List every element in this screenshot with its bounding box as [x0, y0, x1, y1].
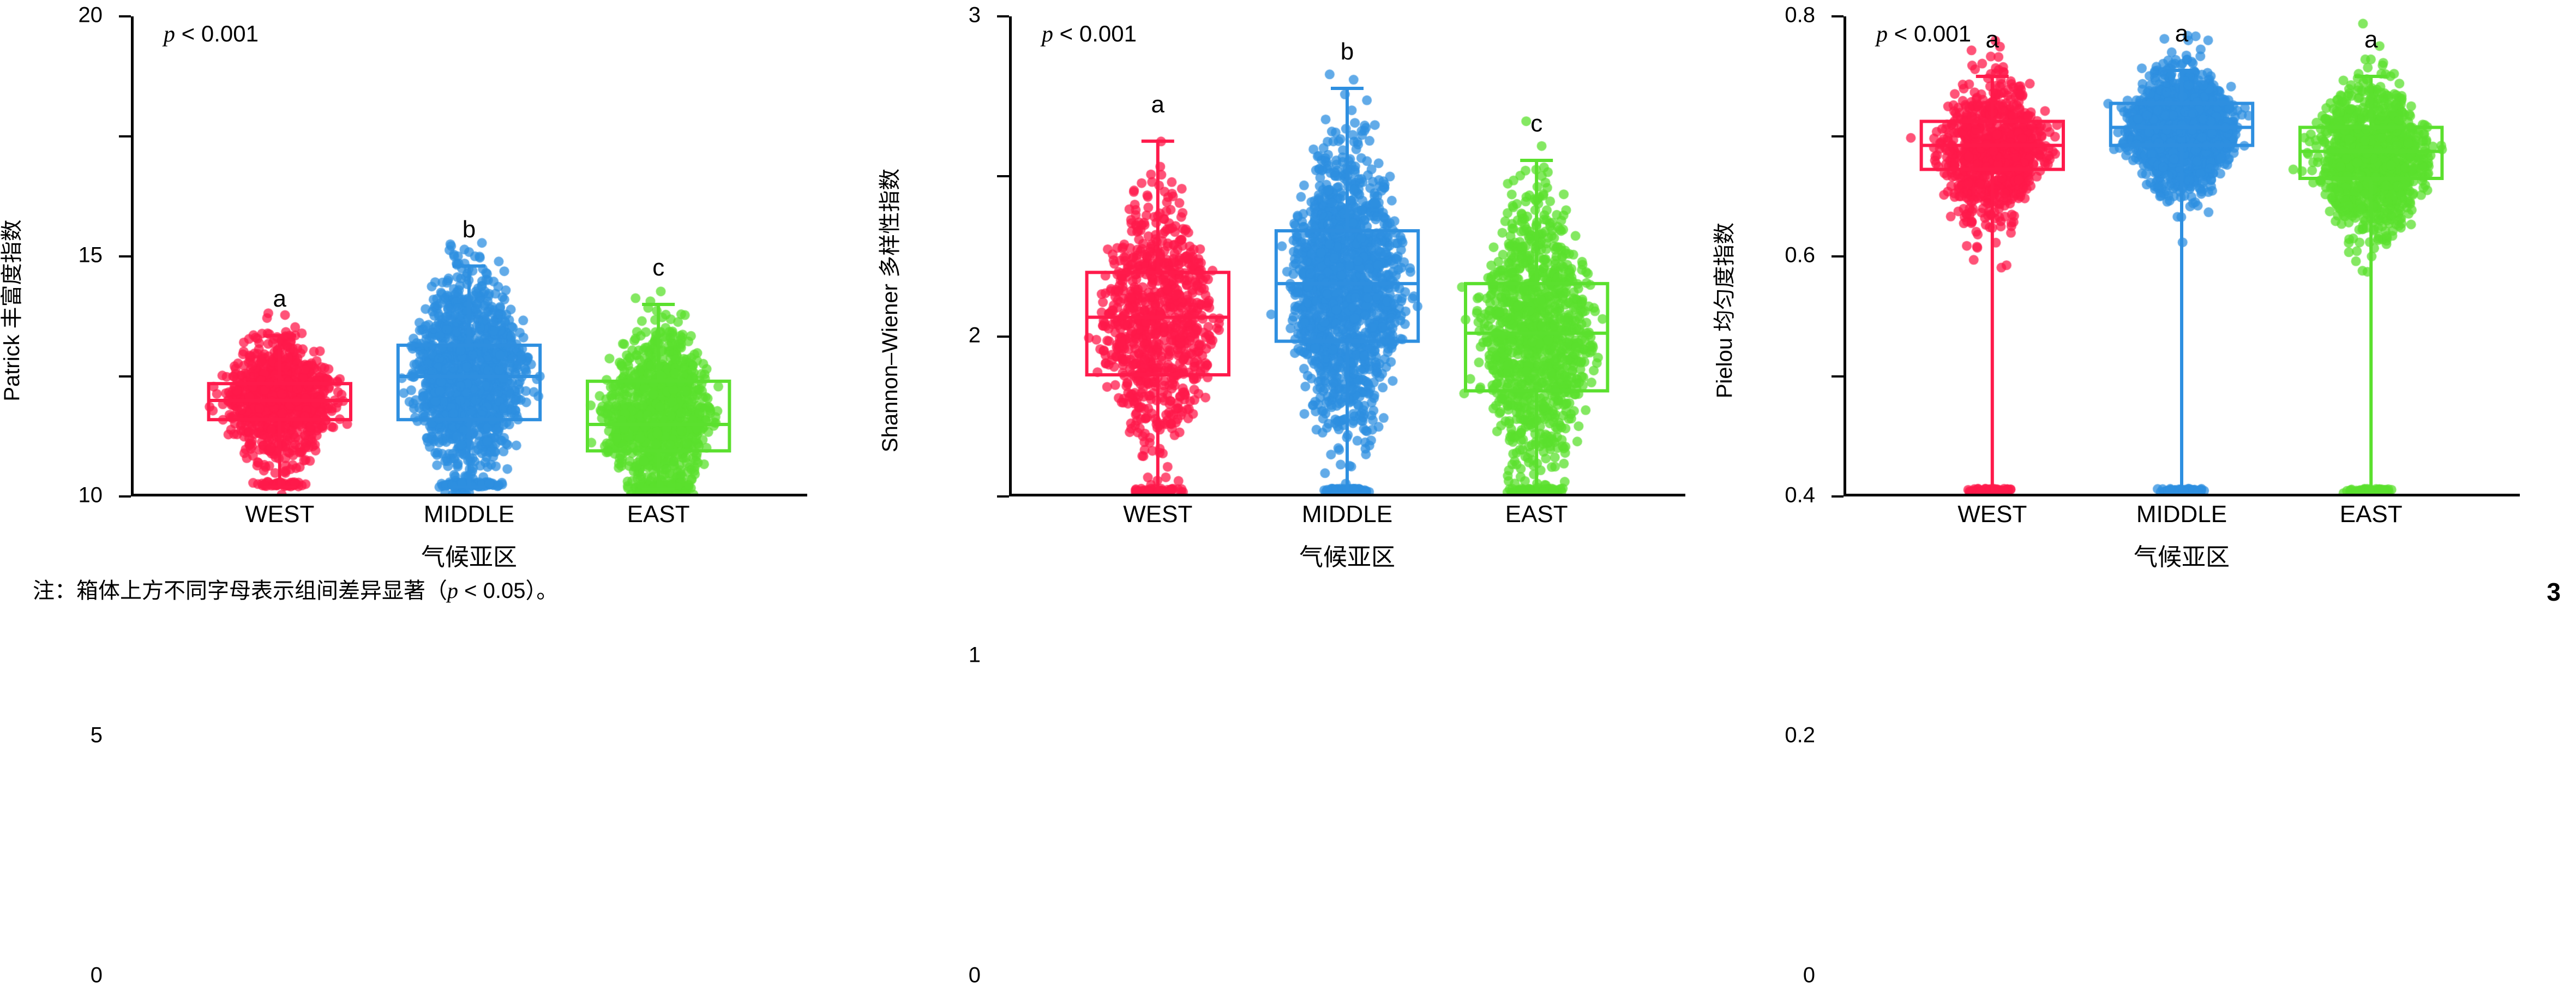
y-tick-2-4: 0.8: [1832, 15, 1844, 17]
y-axis-title-1: Shannon–Wiener 多样性指数: [872, 169, 904, 452]
x-tick-label-1-1: MIDDLE: [1302, 501, 1392, 528]
plot-area-2: 00.20.40.60.8: [1844, 16, 2520, 496]
plot-area-0: 05101520: [131, 16, 807, 496]
boxplot-shapes-0: [131, 16, 807, 496]
y-tick-0-3: 15: [119, 135, 131, 137]
plot-area-1: 0123: [1009, 16, 1685, 496]
y-tick-1-0: 0: [997, 495, 1009, 498]
y-tick-label-1-0: 0: [969, 963, 981, 988]
x-axis-1: [1009, 494, 1685, 496]
x-axis-title-0: 气候亚区: [421, 537, 517, 572]
page-number: 3: [2547, 577, 2561, 607]
pvalue-annotation-2: p < 0.001: [1876, 21, 1971, 47]
boxplot-shapes-1: [1009, 16, 1685, 496]
boxplot-shapes-2: [1844, 16, 2520, 496]
y-tick-label-0-1: 5: [91, 723, 103, 748]
x-axis-0: [131, 494, 807, 496]
x-tick-label-0-1: MIDDLE: [424, 501, 514, 528]
y-tick-label-2-4: 0.8: [1785, 3, 1815, 28]
sig-letter-1-0: a: [1151, 91, 1164, 118]
y-tick-0-4: 20: [119, 15, 131, 17]
y-axis-1: [1009, 16, 1012, 496]
y-tick-1-3: 3: [997, 15, 1009, 17]
y-tick-0-1: 5: [119, 375, 131, 378]
y-tick-label-0-4: 20: [79, 3, 103, 28]
y-tick-label-2-2: 0.4: [1785, 483, 1815, 508]
x-tick-label-0-2: EAST: [627, 501, 690, 528]
sig-letter-0-2: c: [652, 254, 664, 282]
x-tick-label-0-0: WEST: [245, 501, 314, 528]
x-axis-2: [1844, 494, 2520, 496]
y-axis-title-2: Pielou 均匀度指数: [1707, 223, 1738, 398]
sig-letter-2-1: a: [2175, 20, 2188, 47]
x-tick-label-2-2: EAST: [2340, 501, 2403, 528]
pvalue-annotation-0: p < 0.001: [164, 21, 259, 47]
sig-letter-1-1: b: [1341, 38, 1354, 65]
y-tick-2-0: 0: [1832, 495, 1844, 498]
y-axis-0: [131, 16, 134, 496]
y-tick-label-2-0: 0: [1803, 963, 1815, 988]
chart-panel-pielou: 00.20.40.60.8 p < 0.001 Pielou 均匀度指数 WES…: [1713, 0, 2547, 621]
y-tick-label-1-1: 1: [969, 643, 981, 668]
x-axis-title-1: 气候亚区: [1299, 537, 1395, 572]
y-tick-label-1-3: 3: [969, 3, 981, 28]
y-tick-label-2-1: 0.2: [1785, 723, 1815, 748]
pvalue-annotation-1: p < 0.001: [1042, 21, 1137, 47]
sig-letter-0-1: b: [463, 216, 476, 243]
y-tick-2-2: 0.4: [1832, 255, 1844, 258]
sig-letter-2-2: a: [2364, 26, 2377, 53]
y-tick-label-0-3: 15: [79, 243, 103, 268]
y-axis-title-0: Patrick 丰富度指数: [0, 219, 26, 401]
chart-panel-shannon: 0123 p < 0.001 Shannon–Wiener 多样性指数 WEST…: [878, 0, 1713, 621]
y-axis-2: [1844, 16, 1846, 496]
x-tick-label-1-2: EAST: [1505, 501, 1568, 528]
y-tick-label-2-3: 0.6: [1785, 243, 1815, 268]
y-tick-2-1: 0.2: [1832, 375, 1844, 378]
y-tick-label-1-2: 2: [969, 323, 981, 348]
sig-letter-1-2: c: [1530, 110, 1542, 137]
y-tick-label-0-0: 0: [91, 963, 103, 988]
y-tick-1-1: 1: [997, 336, 1009, 338]
y-tick-2-3: 0.6: [1832, 135, 1844, 137]
y-tick-0-2: 10: [119, 255, 131, 258]
sig-letter-0-0: a: [273, 285, 286, 313]
x-axis-title-2: 气候亚区: [2134, 537, 2230, 572]
y-tick-1-2: 2: [997, 175, 1009, 177]
x-tick-label-2-1: MIDDLE: [2136, 501, 2227, 528]
sig-letter-2-0: a: [1986, 26, 1999, 53]
x-tick-label-1-0: WEST: [1123, 501, 1192, 528]
chart-panel-richness: 05101520 p < 0.001 Patrick 丰富度指数 WESTMID…: [0, 0, 834, 621]
y-tick-label-0-2: 10: [79, 483, 103, 508]
x-tick-label-2-0: WEST: [1957, 501, 2027, 528]
y-tick-0-0: 0: [119, 495, 131, 498]
figure-footnote: 注：箱体上方不同字母表示组间差异显著（p < 0.05）。: [33, 573, 558, 604]
